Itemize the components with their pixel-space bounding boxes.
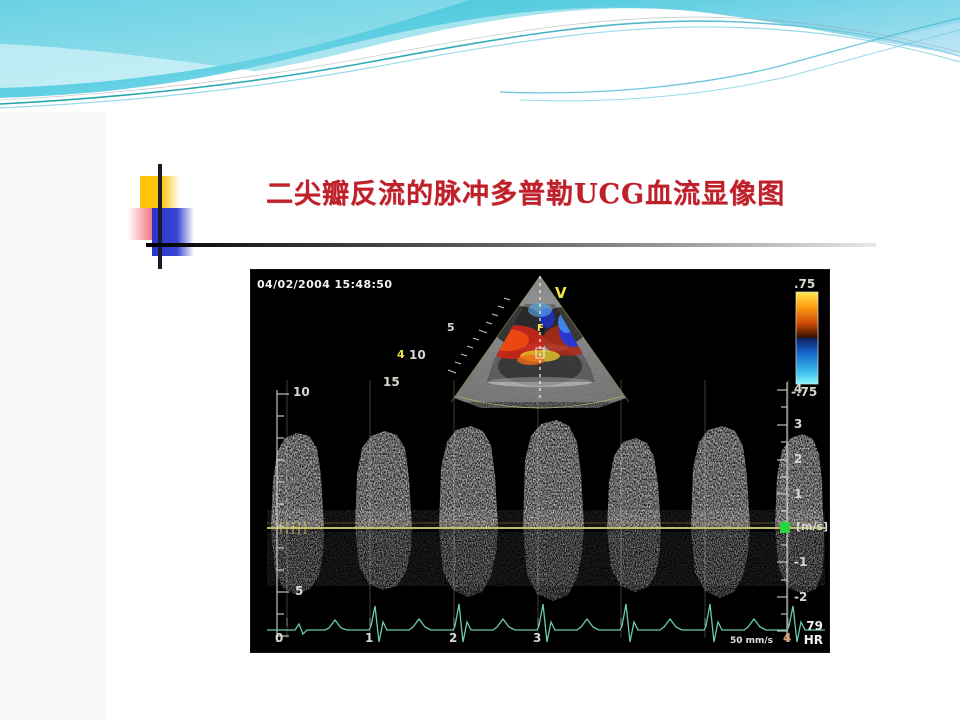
depth-tick-10: 10: [293, 386, 310, 398]
sweep-speed-label: 50 mm/s: [730, 637, 773, 646]
sector-depth-label-15: 15: [383, 376, 400, 388]
title-underline-rule: [146, 243, 876, 247]
title-decoration-icon: [128, 164, 228, 269]
heart-rate-label: HR: [804, 634, 823, 646]
sample-volume-marker: F: [537, 324, 544, 334]
presentation-slide: 二尖瓣反流的脉冲多普勒UCG血流显像图: [0, 0, 960, 720]
velocity-tick-2: 2: [794, 453, 802, 465]
color-bar-top-value: .75: [794, 278, 815, 290]
depth-tick-5: 5: [295, 585, 303, 597]
time-tick-3: 3: [533, 632, 541, 644]
probe-orientation-marker: V: [555, 286, 567, 301]
heart-rate-value: 79: [806, 620, 823, 632]
ultrasound-timestamp: 04/02/2004 15:48:50: [257, 279, 392, 290]
time-tick-2: 2: [449, 632, 457, 644]
time-tick-0: 0: [275, 632, 283, 644]
velocity-tick-3: 3: [794, 418, 802, 430]
velocity-tick-4: 4: [794, 383, 802, 395]
time-tick-4: 4: [783, 632, 791, 644]
time-tick-1: 1: [365, 632, 373, 644]
page-title: 二尖瓣反流的脉冲多普勒UCG血流显像图: [266, 172, 886, 211]
ultrasound-image: 04/02/2004 15:48:50 5 10 15 4 V F .75 -.…: [251, 270, 829, 652]
velocity-tick-1: 1: [794, 488, 802, 500]
sector-arrow-marker: 4: [397, 349, 405, 360]
slide-title-block: 二尖瓣反流的脉冲多普勒UCG血流显像图: [128, 160, 888, 270]
velocity-tick-minus-1: -1: [794, 556, 807, 568]
sector-depth-label-5: 5: [447, 322, 455, 333]
velocity-unit-label: [m/s]: [796, 521, 828, 532]
velocity-tick-minus-2: -2: [794, 591, 807, 603]
sector-depth-label-10: 10: [409, 349, 426, 361]
slide-banner-decoration: [0, 0, 960, 112]
